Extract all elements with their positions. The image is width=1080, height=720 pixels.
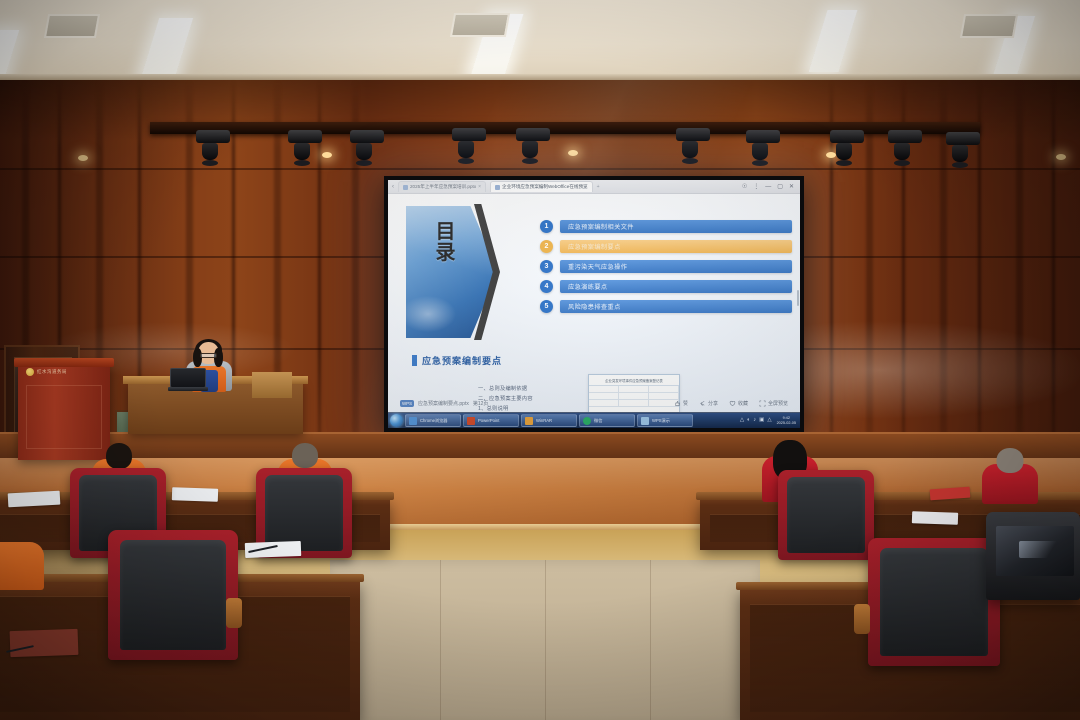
stage-spotlight xyxy=(676,128,710,164)
network-icon[interactable]: ◐ xyxy=(747,418,750,424)
attendee-head xyxy=(292,443,318,468)
taskbar-item-wps[interactable]: WPS演示 xyxy=(637,414,693,427)
stage-side-box xyxy=(252,372,292,398)
organization-emblem-icon xyxy=(26,368,34,376)
toc-item[interactable]: 4 应急演练要点 xyxy=(540,280,792,293)
page-indicator: 第12页 xyxy=(473,400,489,407)
attendee-back-far-right xyxy=(982,448,1038,504)
toc-item[interactable]: 5 风险隐患排查重点 xyxy=(540,300,792,313)
tab-favicon xyxy=(403,185,408,190)
volume-icon[interactable]: ♪ xyxy=(753,418,756,424)
stage-spotlight xyxy=(196,130,230,166)
presenter-glasses xyxy=(200,353,217,358)
table-of-contents: 1 应急预案编制相关文件 2 应急预案编制要点 3 重污染天气应急操作 4 应急… xyxy=(540,220,792,320)
windows-taskbar: Chrome浏览器 PowerPoint WinRAR 微信 WPS演示 xyxy=(388,412,800,428)
stage-spotlight xyxy=(452,128,486,164)
share-label: 分享 xyxy=(708,400,718,407)
taskbar-label: Chrome浏览器 xyxy=(420,418,447,424)
audience-chair xyxy=(778,470,874,560)
notebook xyxy=(10,629,79,657)
shield-icon[interactable]: △ xyxy=(767,418,771,424)
maximize-button[interactable]: ▢ xyxy=(777,183,783,190)
toc-label: 重污染天气应急操作 xyxy=(560,260,792,273)
taskbar-label: WPS演示 xyxy=(652,418,670,424)
stage-spotlight xyxy=(350,130,384,166)
ceiling-vent xyxy=(450,13,510,37)
clock-date: 2025-02-05 xyxy=(777,421,796,426)
tab-title: 2025年上半年应急预案培训.pptx xyxy=(410,184,476,190)
share-icon xyxy=(699,400,706,407)
taskbar-item-powerpoint[interactable]: PowerPoint xyxy=(463,414,519,427)
media-player-icon xyxy=(525,417,533,425)
toc-number: 5 xyxy=(540,300,553,313)
led-display-screen: ‹ 2025年上半年应急预案培训.pptx × 企业环境应急预案编制WebOff… xyxy=(384,176,804,432)
section-title: 应急预案编制要点 xyxy=(422,354,502,367)
toc-label: 应急演练要点 xyxy=(560,280,792,293)
confidence-monitor xyxy=(986,512,1080,600)
taskbar-label: PowerPoint xyxy=(478,418,499,423)
heart-icon xyxy=(729,400,736,407)
input-method-icon[interactable]: ▣ xyxy=(759,418,764,424)
chapter-word: 目录 xyxy=(426,222,466,264)
toc-label: 风险隐患排查重点 xyxy=(560,300,792,313)
attendee-head xyxy=(997,448,1024,473)
fullscreen-label: 全屏预览 xyxy=(768,400,788,407)
screen-content: ‹ 2025年上半年应急预案培训.pptx × 企业环境应急预案编制WebOff… xyxy=(388,180,800,428)
stage-spotlight xyxy=(888,130,922,166)
toc-item[interactable]: 2 应急预案编制要点 xyxy=(540,240,792,253)
windows-start-orb[interactable] xyxy=(390,414,403,427)
toc-number: 2 xyxy=(540,240,553,253)
presenter-laptop xyxy=(168,368,208,392)
chevron-up-icon[interactable]: △ xyxy=(740,418,744,424)
toc-item[interactable]: 3 重污染天气应急操作 xyxy=(540,260,792,273)
chair-armrest xyxy=(226,598,242,628)
favorite-action[interactable]: 收藏 xyxy=(729,400,748,407)
stage-spotlight xyxy=(746,130,780,166)
fullscreen-action[interactable]: 全屏预览 xyxy=(759,400,788,407)
fullscreen-icon xyxy=(759,400,766,407)
tab-favicon xyxy=(495,185,500,190)
stage-spotlight xyxy=(830,130,864,166)
podium-sign-text: 红水沟道务局 xyxy=(37,369,67,375)
chair-armrest xyxy=(854,604,870,634)
ceiling-light-panel xyxy=(141,18,193,78)
toc-item[interactable]: 1 应急预案编制相关文件 xyxy=(540,220,792,233)
taskbar-clock[interactable]: 9:42 2025-02-05 xyxy=(775,416,796,425)
stage-spotlight xyxy=(288,130,322,166)
kebab-menu-icon[interactable]: ⋮ xyxy=(753,183,759,190)
viewer-footer: WPS 应急预案编制要点.pptx 第12页 赞 分享 xyxy=(388,397,800,409)
powerpoint-icon xyxy=(467,417,475,425)
ceiling xyxy=(0,0,1080,80)
thumbs-up-icon xyxy=(674,400,681,407)
browser-tab-1[interactable]: 2025年上半年应急预案培训.pptx × xyxy=(398,181,486,192)
attendee-head xyxy=(106,443,132,469)
taskbar-label: 微信 xyxy=(594,418,602,424)
back-arrow-icon[interactable]: ‹ xyxy=(392,184,394,190)
attendee-front-left xyxy=(0,528,44,590)
browser-tab-2[interactable]: 企业环境应急预案编制WebOffice在线预览 xyxy=(490,181,593,192)
ceiling-vent xyxy=(960,14,1018,38)
close-window-button[interactable]: ✕ xyxy=(789,183,794,190)
new-tab-button[interactable]: + xyxy=(597,184,600,190)
audience-chair xyxy=(868,538,1000,666)
like-action[interactable]: 赞 xyxy=(674,400,688,407)
taskbar-label: WinRAR xyxy=(536,418,552,423)
center-aisle xyxy=(330,560,760,720)
notebook xyxy=(172,487,218,502)
toc-number: 3 xyxy=(540,260,553,273)
monitor-screen xyxy=(996,526,1074,576)
tab-title: 企业环境应急预案编制WebOffice在线预览 xyxy=(502,184,588,190)
toc-number: 4 xyxy=(540,280,553,293)
document-card-title: 企业突发环境事件应急预案备案登记表 xyxy=(589,375,679,386)
notebook xyxy=(8,491,61,508)
stage-spotlight xyxy=(516,128,550,164)
document-name: 应急预案编制要点.pptx xyxy=(418,400,469,407)
share-action[interactable]: 分享 xyxy=(699,400,718,407)
profile-icon[interactable]: ☉ xyxy=(742,183,747,190)
scrollbar-thumb[interactable] xyxy=(797,290,799,306)
section-heading: 应急预案编制要点 xyxy=(412,354,502,367)
toc-label: 应急预案编制相关文件 xyxy=(560,220,792,233)
conference-room-photo: ‹ 2025年上半年应急预案培训.pptx × 企业环境应急预案编制WebOff… xyxy=(0,0,1080,720)
chrome-icon xyxy=(409,417,417,425)
bullet-marker-icon xyxy=(412,355,417,366)
system-tray: △ ◐ ♪ ▣ △ 9:42 2025-02-05 xyxy=(740,416,798,425)
minimize-button[interactable]: — xyxy=(765,184,771,190)
notebook xyxy=(912,511,958,525)
wps-badge: WPS xyxy=(400,400,414,407)
like-label: 赞 xyxy=(683,400,688,407)
taskbar-item-winrar[interactable]: WinRAR xyxy=(521,414,577,427)
browser-tab-bar: ‹ 2025年上半年应急预案培训.pptx × 企业环境应急预案编制WebOff… xyxy=(388,180,800,194)
wechat-icon xyxy=(583,417,591,425)
audience-chair xyxy=(108,530,238,660)
ceiling-vent xyxy=(44,14,100,38)
stage-spotlight xyxy=(946,132,980,168)
favorite-label: 收藏 xyxy=(738,400,748,407)
presentation-slide: 目录 1 应急预案编制相关文件 2 应急预案编制要点 3 重污染天气应急操作 xyxy=(388,194,800,412)
toc-label: 应急预案编制要点 xyxy=(560,240,792,253)
attendee-vest xyxy=(0,542,44,590)
toc-number: 1 xyxy=(540,220,553,233)
close-icon[interactable]: × xyxy=(478,184,481,190)
ceiling-light-panel xyxy=(0,30,19,78)
taskbar-item-wechat[interactable]: 微信 xyxy=(579,414,635,427)
wps-icon xyxy=(641,417,649,425)
stage-front-face xyxy=(0,432,1080,460)
ceiling-light-panel xyxy=(809,10,858,72)
taskbar-item-chrome[interactable]: Chrome浏览器 xyxy=(405,414,461,427)
podium-sign: 红水沟道务局 xyxy=(26,366,102,377)
